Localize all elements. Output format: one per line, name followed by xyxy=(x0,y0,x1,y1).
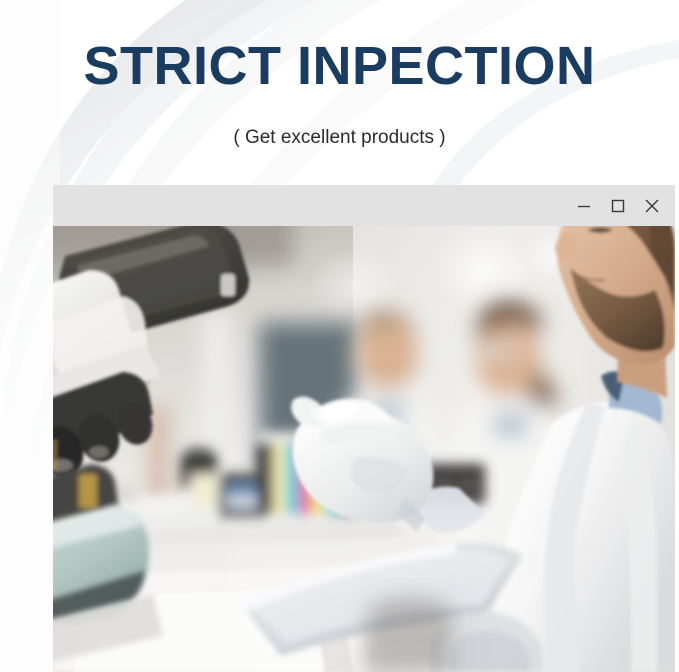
application-window xyxy=(53,185,675,672)
maximize-icon xyxy=(610,198,626,214)
photo-viewport xyxy=(53,226,675,672)
page-title: STRICT INPECTION xyxy=(0,36,679,96)
close-button[interactable] xyxy=(635,185,669,226)
page-subtitle: ( Get excellent products ) xyxy=(0,125,679,151)
maximize-button[interactable] xyxy=(601,185,635,226)
close-icon xyxy=(643,197,661,215)
minimize-icon xyxy=(576,198,592,214)
header: STRICT INPECTION ( Get excellent product… xyxy=(0,0,679,185)
page-root: STRICT INPECTION ( Get excellent product… xyxy=(0,0,679,672)
lab-inspection-photo xyxy=(53,226,675,672)
titlebar-right-spacer xyxy=(669,185,675,226)
window-titlebar[interactable] xyxy=(53,185,675,226)
minimize-button[interactable] xyxy=(567,185,601,226)
